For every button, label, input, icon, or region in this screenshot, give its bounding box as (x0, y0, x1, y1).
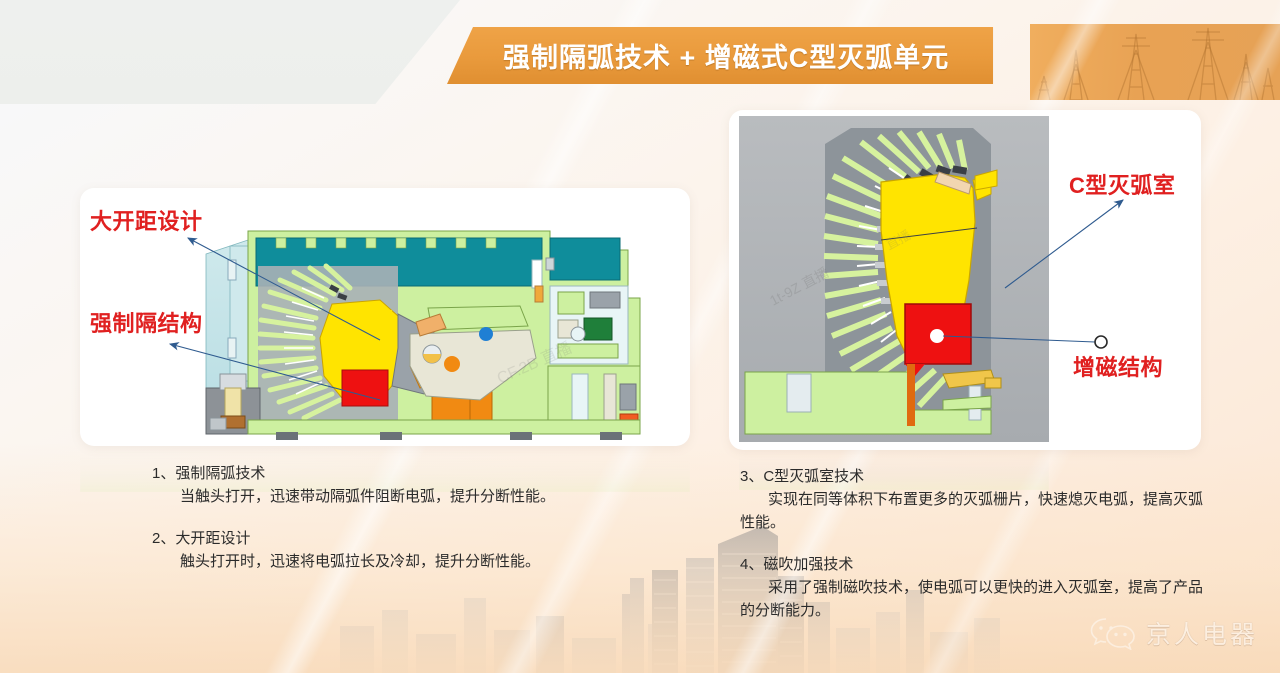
right-diagram-card: 1t-9Z 直播 直播 C型灭弧室 增磁结构 (729, 110, 1201, 450)
left-diagram-card: CF.2B 直播 大开距设计 强制隔结构 (80, 188, 690, 446)
text-item-1-number: 1、 (152, 465, 175, 482)
text-item-1: 1、强制隔弧技术 当触头打开，迅速带动隔弧件阻断电弧，提升分断性能。 (152, 463, 672, 508)
text-item-1-title: 强制隔弧技术 (175, 465, 265, 482)
wechat-icon (1090, 616, 1136, 650)
callout-wide-gap-design: 大开距设计 (90, 204, 203, 236)
page-title: 强制隔弧技术 + 增磁式C型灭弧单元 (503, 36, 949, 75)
text-item-2-heading: 2、大开距设计 (152, 528, 672, 550)
text-item-2-body: 触头打开时，迅速将电弧拉长及冷却，提升分断性能。 (152, 550, 672, 573)
wechat-brand-watermark: 京人电器 (1090, 615, 1258, 651)
text-item-4-number: 4、 (740, 556, 763, 573)
text-item-4-heading: 4、磁吹加强技术 (740, 554, 1210, 576)
brand-name: 京人电器 (1146, 615, 1258, 651)
text-item-3-title: C型灭弧室技术 (763, 468, 864, 485)
text-item-1-heading: 1、强制隔弧技术 (152, 463, 672, 485)
transmission-tower-photo (1030, 24, 1280, 100)
left-text-column: 1、强制隔弧技术 当触头打开，迅速带动隔弧件阻断电弧，提升分断性能。 2、大开距… (152, 463, 672, 593)
text-item-3-body: 实现在同等体积下布置更多的灭弧栅片，快速熄灭电弧，提高灭弧性能。 (740, 488, 1210, 534)
slide-root: 强制隔弧技术 + 增磁式C型灭弧单元 (0, 0, 1280, 673)
slide-title-banner: 强制隔弧技术 + 增磁式C型灭弧单元 (447, 27, 993, 84)
transmission-towers-icon (1030, 24, 1280, 100)
callout-c-type-arc-chamber: C型灭弧室 (1069, 168, 1175, 200)
text-item-3: 3、C型灭弧室技术 实现在同等体积下布置更多的灭弧栅片，快速熄灭电弧，提高灭弧性… (740, 466, 1210, 534)
c-type-arc-chamber-diagram: 1t-9Z 直播 直播 (729, 110, 1201, 450)
top-left-band (0, 0, 460, 104)
callout-magnetic-boost-structure: 增磁结构 (1073, 350, 1163, 382)
text-item-4-title: 磁吹加强技术 (763, 556, 853, 573)
text-item-2-number: 2、 (152, 530, 175, 547)
callout-forced-arc-isolation: 强制隔结构 (90, 306, 203, 338)
text-item-1-body: 当触头打开，迅速带动隔弧件阻断电弧，提升分断性能。 (152, 485, 672, 508)
text-item-3-heading: 3、C型灭弧室技术 (740, 466, 1210, 488)
text-item-3-number: 3、 (740, 468, 763, 485)
text-item-4: 4、磁吹加强技术 采用了强制磁吹技术，使电弧可以更快的进入灭弧室，提高了产品的分… (740, 554, 1210, 622)
text-item-2-title: 大开距设计 (175, 530, 250, 547)
text-item-2: 2、大开距设计 触头打开时，迅速将电弧拉长及冷却，提升分断性能。 (152, 528, 672, 573)
